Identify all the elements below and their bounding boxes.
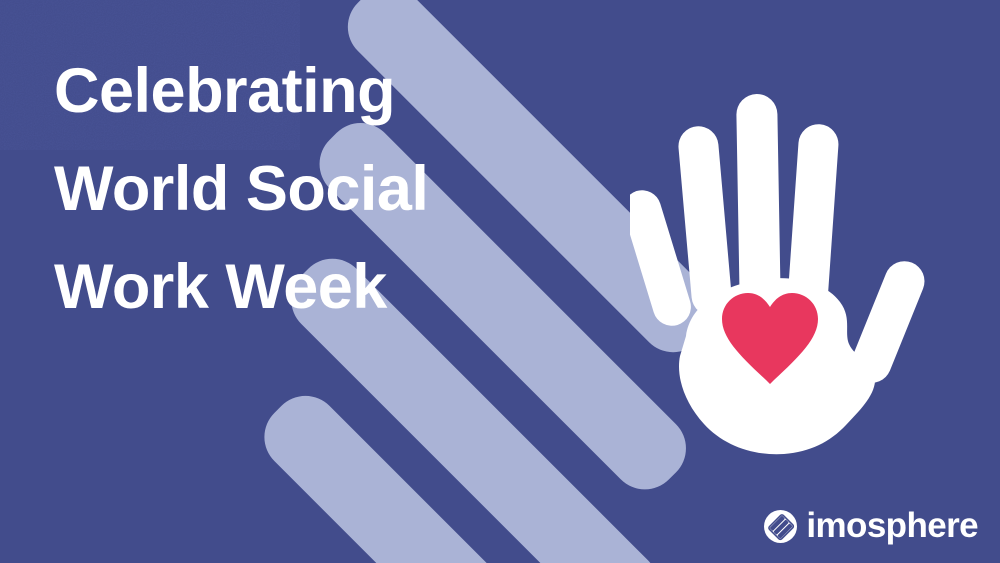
brand-wordmark: imosphere (806, 508, 978, 545)
promo-banner: Celebrating World Social Work Week (0, 0, 1000, 563)
brand-logo[interactable]: imosphere (764, 508, 978, 545)
page-title: Celebrating World Social Work Week (54, 42, 428, 336)
headline-line-2: World Social (54, 140, 428, 238)
headline-line-1: Celebrating (54, 42, 428, 140)
hand-shape (630, 94, 931, 455)
stripe-bar (250, 382, 645, 563)
headline-line-3: Work Week (54, 238, 428, 336)
handprint-with-heart-illustration (630, 80, 950, 460)
imosphere-logo-icon (764, 510, 797, 543)
